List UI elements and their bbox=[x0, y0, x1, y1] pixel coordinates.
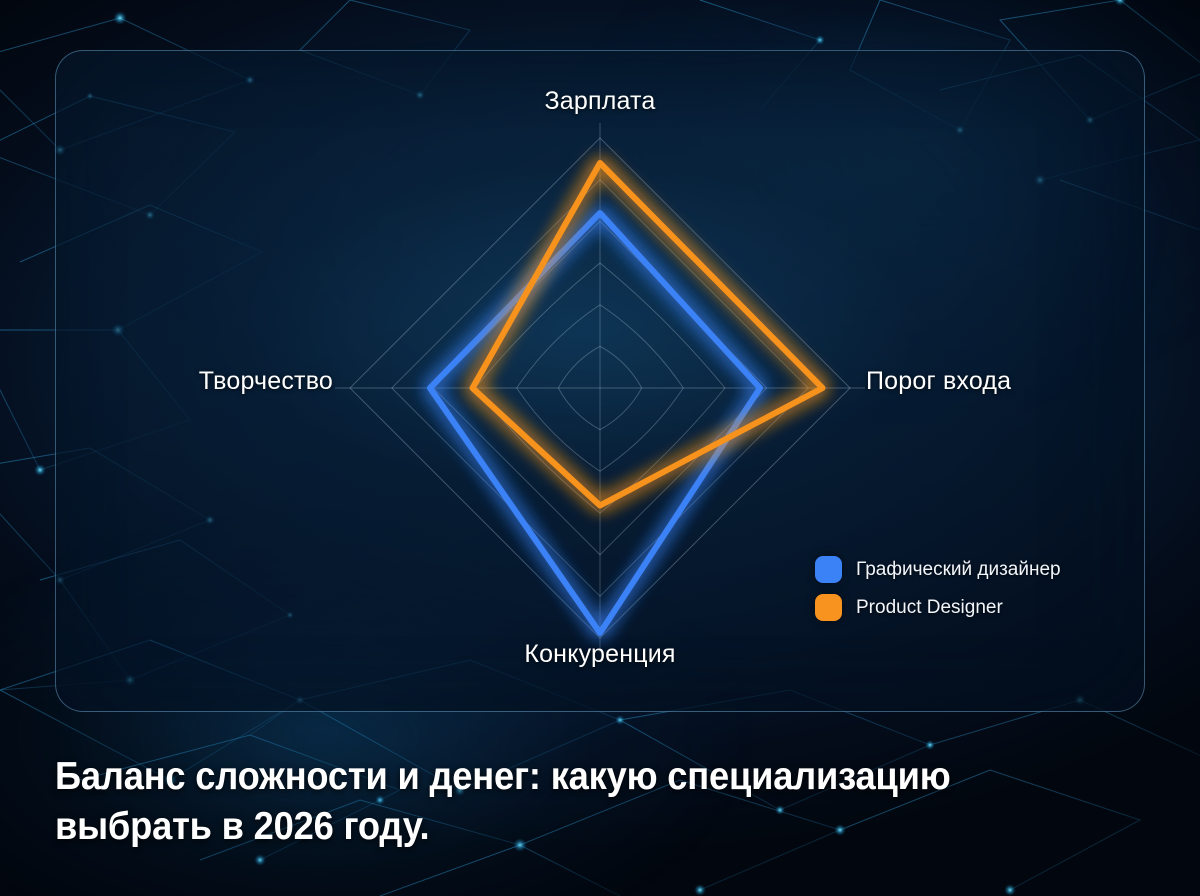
legend-swatch-blue bbox=[815, 556, 842, 583]
radar-series-product-designer bbox=[473, 163, 823, 506]
axis-label-creativity: Творчество bbox=[199, 367, 333, 396]
axis-label-salary: Зарплата bbox=[544, 87, 655, 116]
axis-label-competition: Конкуренция bbox=[524, 640, 675, 669]
radar-grid bbox=[335, 123, 865, 653]
legend-swatch-orange bbox=[815, 594, 842, 621]
chart-legend: Графический дизайнер Product Designer bbox=[815, 556, 1061, 621]
legend-label-graphic-designer: Графический дизайнер bbox=[856, 559, 1061, 581]
poster-canvas: Зарплата Порог входа Конкуренция Творчес… bbox=[0, 0, 1200, 896]
poster-caption: Баланс сложности и денег: какую специали… bbox=[55, 752, 1069, 851]
legend-item-product-designer[interactable]: Product Designer bbox=[815, 594, 1061, 621]
radar-series bbox=[430, 163, 823, 633]
axis-label-entry-threshold: Порог входа bbox=[866, 367, 1011, 396]
legend-label-product-designer: Product Designer bbox=[856, 597, 1003, 619]
legend-item-graphic-designer[interactable]: Графический дизайнер bbox=[815, 556, 1061, 583]
